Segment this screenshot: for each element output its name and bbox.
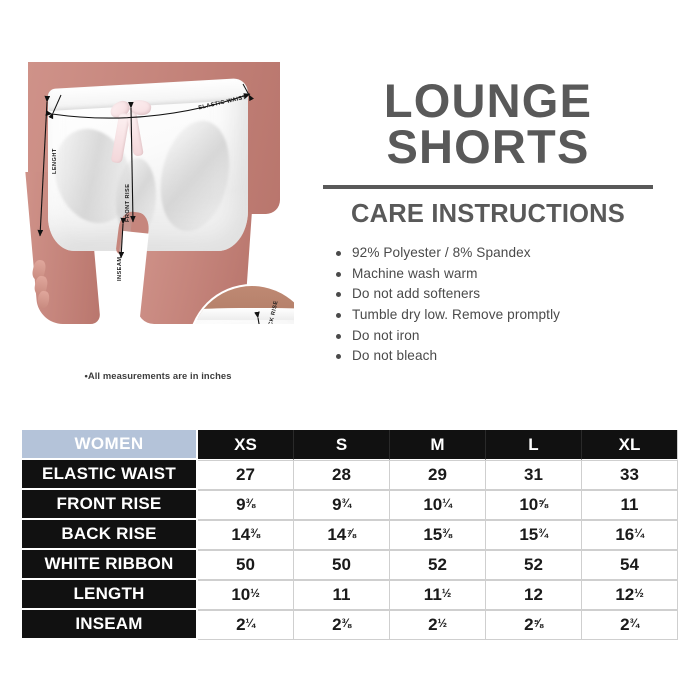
care-instruction-text: Do not iron: [352, 328, 420, 343]
measurement-value: 27: [198, 460, 294, 490]
table-row: INSEAM2¼2⅜2½2⅝2¾: [22, 610, 678, 640]
measurement-value: 29: [390, 460, 486, 490]
bullet-icon: [336, 334, 341, 339]
measurement-row-label: BACK RISE: [22, 520, 198, 550]
care-instruction-text: Tumble dry low. Remove promptly: [352, 307, 560, 322]
measurement-value: 2¼: [198, 610, 294, 640]
title-divider: [323, 185, 653, 189]
measurement-value: 15⅜: [390, 520, 486, 550]
size-column-header-m: M: [390, 430, 486, 460]
table-header-row: WOMEN XSSMLXL: [22, 430, 678, 460]
measurement-value: 10½: [198, 580, 294, 610]
measurement-row-label: WHITE RIBBON: [22, 550, 198, 580]
measurement-value: 14⅞: [294, 520, 390, 550]
measurement-value: 50: [198, 550, 294, 580]
measurement-value: 2¾: [582, 610, 678, 640]
measurement-row-label: ELASTIC WAIST: [22, 460, 198, 490]
care-instruction-item: Do not iron: [330, 326, 664, 347]
measurement-value: 11: [582, 490, 678, 520]
care-instruction-text: Do not bleach: [352, 348, 437, 363]
measurement-value: 14⅜: [198, 520, 294, 550]
product-overview-section: ELASTIC WAIST LENGHT FRONT RISE INSEAM B…: [0, 0, 700, 418]
info-panel: LOUNGE SHORTS CARE INSTRUCTIONS 92% Poly…: [312, 78, 664, 367]
care-instructions-heading: CARE INSTRUCTIONS: [312, 200, 664, 229]
measurement-value: 11½: [390, 580, 486, 610]
label-inseam: INSEAM: [117, 257, 123, 281]
page-title: LOUNGE SHORTS: [312, 78, 664, 170]
measurement-value: 2⅝: [486, 610, 582, 640]
table-corner-label: WOMEN: [22, 430, 198, 460]
care-instructions-list: 92% Polyester / 8% SpandexMachine wash w…: [312, 243, 664, 367]
measurement-row-label: LENGTH: [22, 580, 198, 610]
measurement-value: 9¾: [294, 490, 390, 520]
size-chart-table: WOMEN XSSMLXL ELASTIC WAIST2728293133FRO…: [22, 430, 678, 640]
table-row: BACK RISE14⅜14⅞15⅜15¾16¼: [22, 520, 678, 550]
measurement-value: 11: [294, 580, 390, 610]
care-instruction-text: Do not add softeners: [352, 286, 480, 301]
table-row: FRONT RISE9⅜9¾10¼10⅝11: [22, 490, 678, 520]
measurement-value: 54: [582, 550, 678, 580]
measurement-value: 2⅜: [294, 610, 390, 640]
measurement-value: 2½: [390, 610, 486, 640]
bullet-icon: [336, 313, 341, 318]
size-column-header-xs: XS: [198, 430, 294, 460]
bow-tail-right: [126, 112, 144, 156]
table-row: ELASTIC WAIST2728293133: [22, 460, 678, 490]
measurement-value: 12: [486, 580, 582, 610]
measurement-value: 10¼: [390, 490, 486, 520]
bullet-icon: [336, 354, 341, 359]
measurement-value: 15¾: [486, 520, 582, 550]
bullet-icon: [336, 292, 341, 297]
care-instruction-item: Machine wash warm: [330, 264, 664, 285]
table-row: WHITE RIBBON5050525254: [22, 550, 678, 580]
measurement-value: 52: [390, 550, 486, 580]
measurement-value: 28: [294, 460, 390, 490]
measurement-row-label: FRONT RISE: [22, 490, 198, 520]
elastic-waistband-back: [190, 308, 294, 320]
care-instruction-item: Tumble dry low. Remove promptly: [330, 305, 664, 326]
measurement-row-label: INSEAM: [22, 610, 198, 640]
care-instruction-item: Do not add softeners: [330, 284, 664, 305]
size-chart-section: WOMEN XSSMLXL ELASTIC WAIST2728293133FRO…: [22, 430, 678, 640]
measurement-value: 33: [582, 460, 678, 490]
size-column-header-xl: XL: [582, 430, 678, 460]
title-line-2: SHORTS: [312, 124, 664, 170]
measurement-value: 12½: [582, 580, 678, 610]
label-front-rise: FRONT RISE: [125, 184, 131, 222]
size-column-header-l: L: [486, 430, 582, 460]
measurement-units-note: •All measurements are in inches: [22, 370, 294, 381]
care-instruction-item: 92% Polyester / 8% Spandex: [330, 243, 664, 264]
size-column-header-s: S: [294, 430, 390, 460]
care-instruction-text: 92% Polyester / 8% Spandex: [352, 245, 531, 260]
product-photo: ELASTIC WAIST LENGHT FRONT RISE INSEAM B…: [22, 62, 294, 324]
bullet-icon: [336, 272, 341, 277]
care-instruction-item: Do not bleach: [330, 346, 664, 367]
drawstring-bow: [110, 100, 152, 170]
measurement-value: 50: [294, 550, 390, 580]
measurement-value: 52: [486, 550, 582, 580]
bullet-icon: [336, 251, 341, 256]
measurement-value: 10⅝: [486, 490, 582, 520]
table-row: LENGTH10½1111½1212½: [22, 580, 678, 610]
product-diagram-panel: ELASTIC WAIST LENGHT FRONT RISE INSEAM B…: [22, 62, 294, 390]
title-line-1: LOUNGE: [312, 78, 664, 124]
measurement-value: 31: [486, 460, 582, 490]
label-length: LENGHT: [52, 148, 58, 174]
measurement-value: 9⅜: [198, 490, 294, 520]
care-instruction-text: Machine wash warm: [352, 266, 478, 281]
measurement-value: 16¼: [582, 520, 678, 550]
